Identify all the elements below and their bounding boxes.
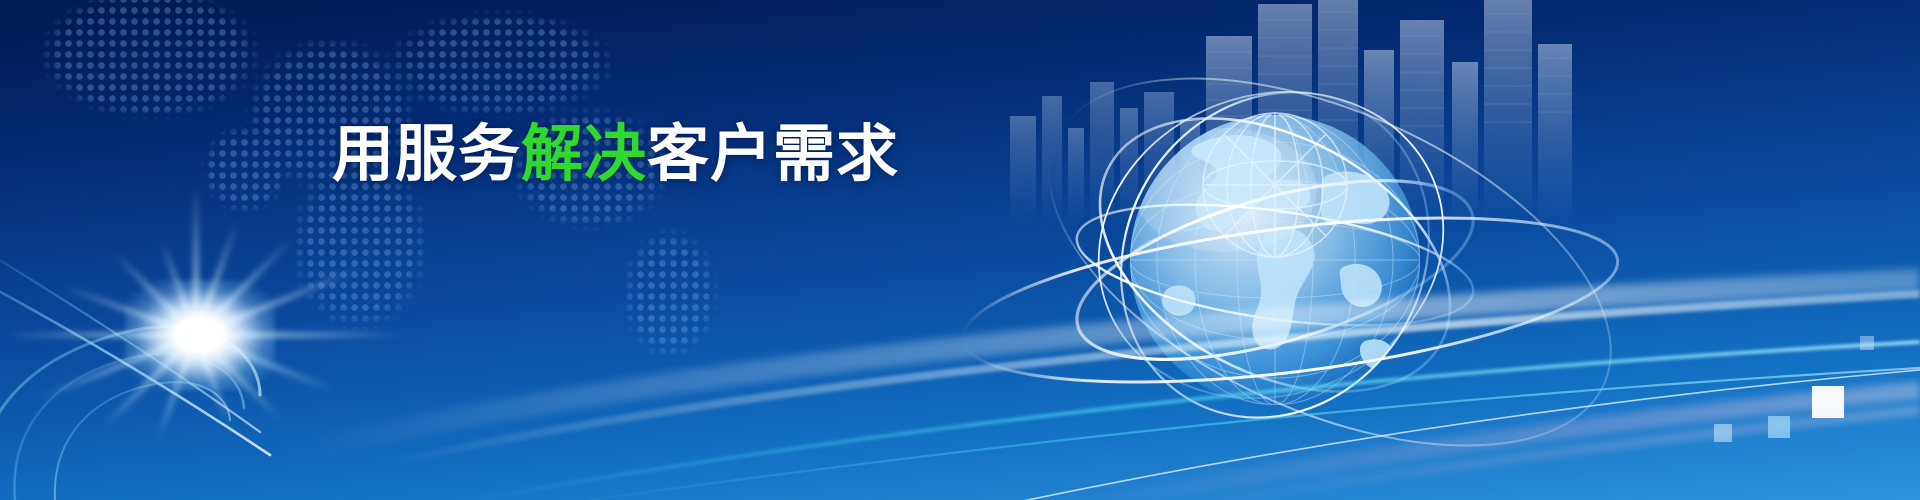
- headline-segment-white-2: 客户需求: [647, 120, 899, 189]
- headline-segment-green: 解决: [521, 120, 647, 189]
- light-streaks-graphic: [0, 250, 1920, 500]
- banner-headline: 用服务解决客户需求: [332, 124, 899, 186]
- promotional-banner: 用服务解决客户需求: [0, 0, 1920, 500]
- decorative-square-small-1: [1768, 416, 1790, 438]
- headline-segment-white-1: 用服务: [332, 120, 521, 189]
- decorative-square-large: [1812, 386, 1844, 418]
- decorative-square-small-3: [1860, 336, 1874, 350]
- decorative-square-small-2: [1714, 424, 1732, 442]
